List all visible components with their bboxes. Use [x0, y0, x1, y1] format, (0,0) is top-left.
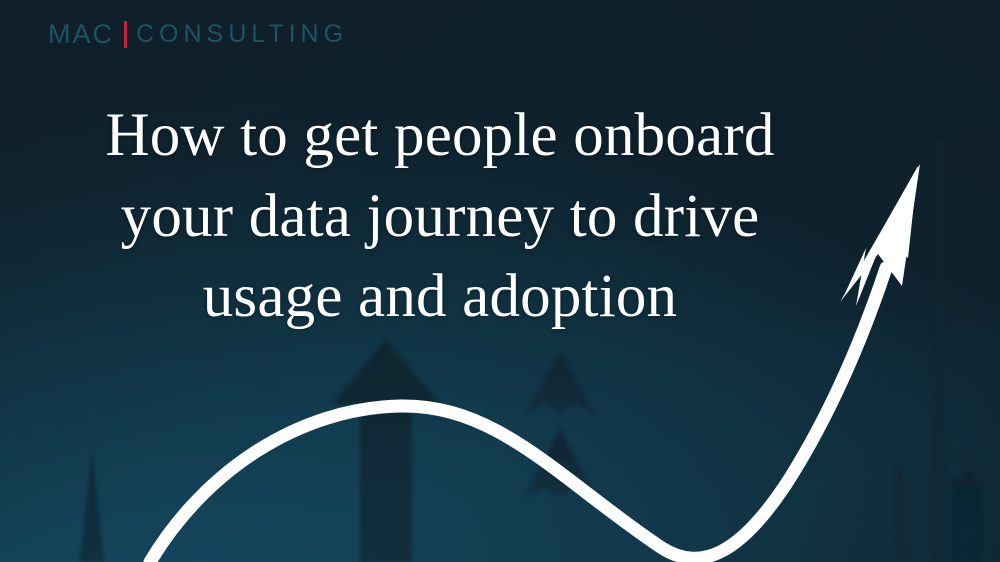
- title-line-1: How to get people onboard: [0, 96, 880, 177]
- title-line-2: your data journey to drive: [0, 177, 880, 258]
- title-slide: MAC CONSULTING How to get people onboard…: [0, 0, 1000, 562]
- slide-title: How to get people onboard your data jour…: [0, 96, 880, 338]
- title-line-3: usage and adoption: [0, 257, 880, 338]
- logo-separator-bar: [124, 21, 127, 48]
- brand-logo[interactable]: MAC CONSULTING: [48, 19, 348, 49]
- logo-secondary-text: CONSULTING: [136, 22, 348, 47]
- logo-primary-text: MAC: [48, 21, 114, 48]
